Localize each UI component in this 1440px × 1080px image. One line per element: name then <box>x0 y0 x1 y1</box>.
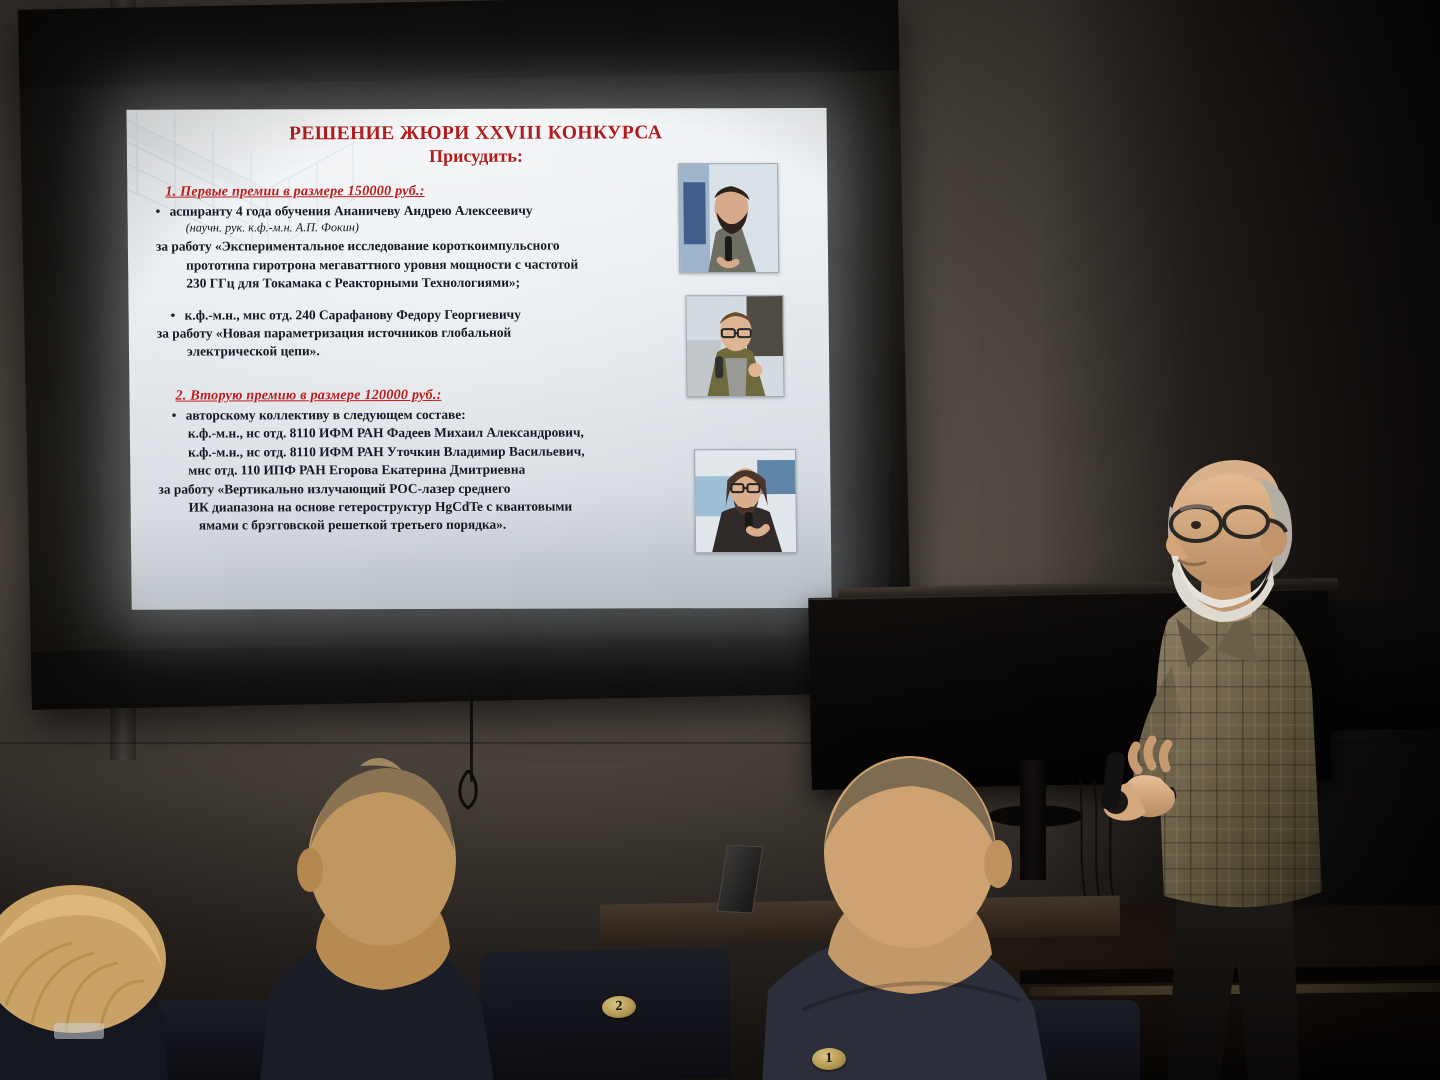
prize-number-2: 2. <box>175 387 186 403</box>
team-intro-text: авторскому коллективу в следующем состав… <box>186 407 466 423</box>
bullet-icon: • <box>172 406 186 423</box>
audience-member-center <box>258 752 498 1080</box>
prize-number-1: 1. <box>165 184 176 200</box>
laureate-photo-2 <box>685 295 784 397</box>
audience-member-blonde <box>0 855 200 1080</box>
audience-hair-clip <box>54 1023 104 1039</box>
laureate-photo-1 <box>678 163 779 273</box>
presenter-figure <box>1060 452 1390 1080</box>
slide-title: РЕШЕНИЕ ЖЮРИ XXVIII КОНКУРСА <box>139 122 813 146</box>
bullet-icon: • <box>171 306 185 323</box>
audience-member-right <box>762 740 1052 1080</box>
prize-heading-text-2: Вторую премию в размере 120000 руб.: <box>190 387 441 404</box>
prize-heading-text-1: Первые премии в размере 150000 руб.: <box>180 183 425 200</box>
screen-frame-top <box>18 0 899 88</box>
work-title-line: 230 ГГц для Токамака с Реакторными Техно… <box>186 273 814 292</box>
laureate-photo-3 <box>694 449 797 553</box>
presentation-slide: РЕШЕНИЕ ЖЮРИ XXVIII КОНКУРСА Присудить: … <box>126 108 831 610</box>
lecture-hall-photo: РЕШЕНИЕ ЖЮРИ XXVIII КОНКУРСА Присудить: … <box>0 0 1440 1080</box>
team-member-line: к.ф.-м.н., нс отд. 8110 ИФМ РАН Фадеев М… <box>188 423 816 442</box>
laureate-name-2: к.ф.-м.н., мнс отд. 240 Сарафанову Федор… <box>185 306 521 322</box>
bullet-icon: • <box>155 203 169 220</box>
projection-screen-frame: РЕШЕНИЕ ЖЮРИ XXVIII КОНКУРСА Присудить: … <box>18 0 912 710</box>
team-intro-line: •авторскому коллективу в следующем соста… <box>172 405 816 424</box>
laureate-name-1: аспиранту 4 года обучения Ананичеву Андр… <box>169 203 532 219</box>
presenter-trousers <box>1168 882 1300 1080</box>
